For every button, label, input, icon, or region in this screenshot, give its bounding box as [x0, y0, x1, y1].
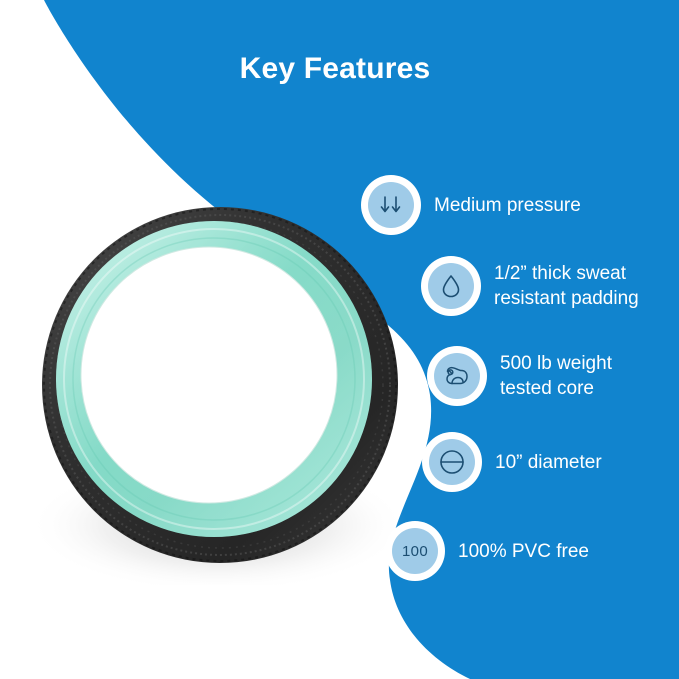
key-features-infographic: Key Features [0, 0, 679, 679]
circle-diameter-icon [429, 439, 475, 485]
feature-item-diameter[interactable]: 10” diameter [429, 439, 602, 485]
product-image-yoga-wheel [28, 195, 418, 585]
feature-item-medium-pressure[interactable]: Medium pressure [368, 182, 581, 228]
feature-item-sweat-resistant-padding[interactable]: 1/2” thick sweat resistant padding [428, 261, 639, 311]
feature-label: 500 lb weight tested core [500, 351, 612, 401]
double-down-arrow-icon [368, 182, 414, 228]
water-drop-icon [428, 263, 474, 309]
hundred-badge-text: 100 [402, 543, 428, 560]
feature-label: 100% PVC free [458, 539, 589, 564]
flexed-bicep-icon [434, 353, 480, 399]
feature-label: 1/2” thick sweat resistant padding [494, 261, 639, 311]
feature-label: Medium pressure [434, 193, 581, 218]
feature-item-pvc-free[interactable]: 100 100% PVC free [392, 528, 589, 574]
hundred-badge-icon: 100 [392, 528, 438, 574]
feature-item-weight-tested-core[interactable]: 500 lb weight tested core [434, 351, 612, 401]
page-title: Key Features [65, 52, 605, 86]
feature-label: 10” diameter [495, 450, 602, 475]
